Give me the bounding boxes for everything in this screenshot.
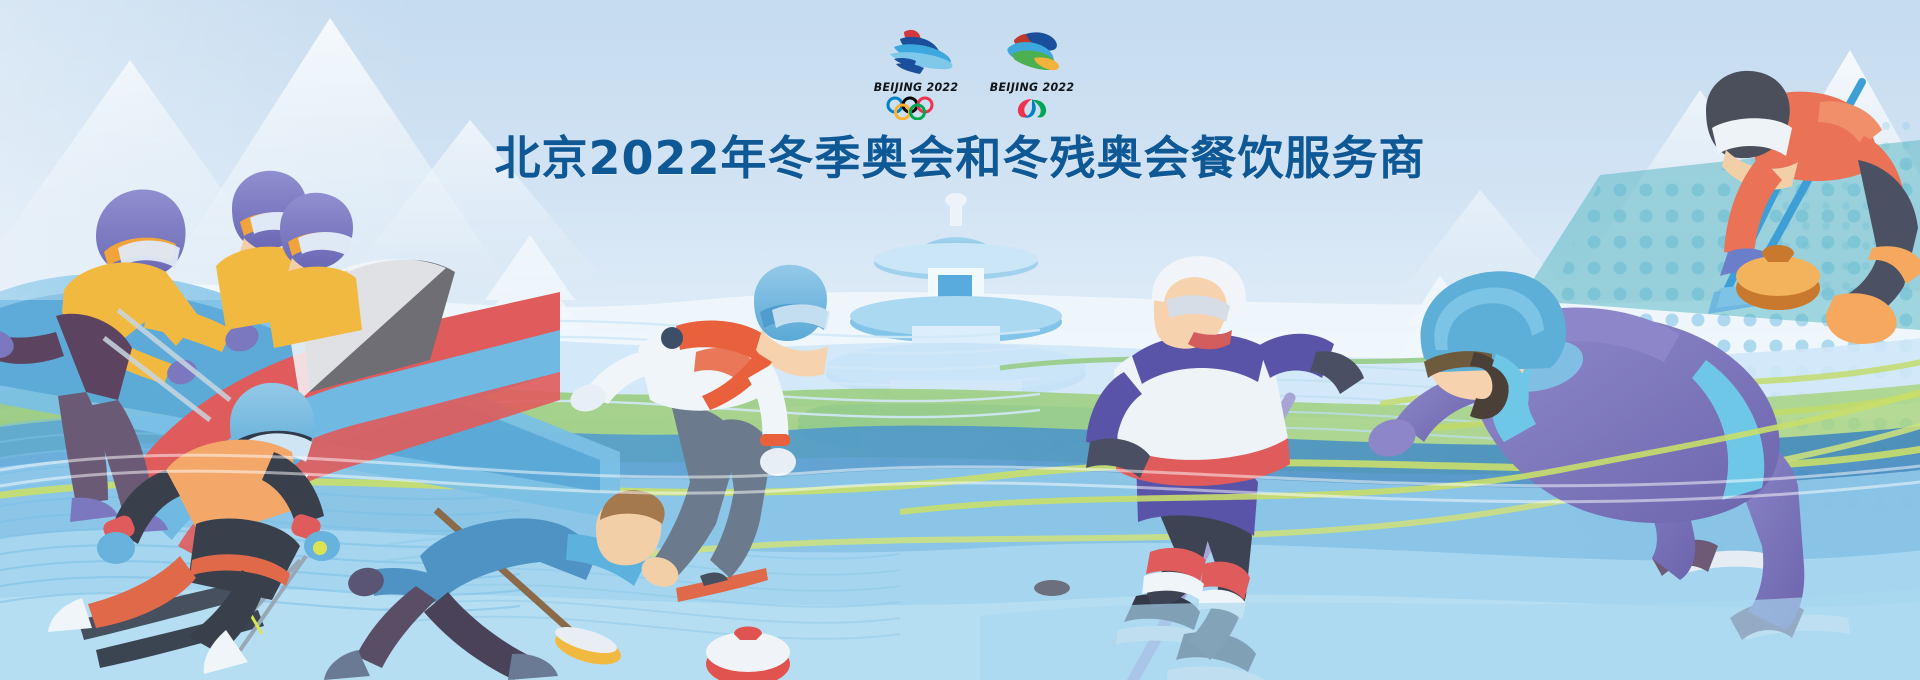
winter-dream-emblem-icon <box>870 26 962 78</box>
olympic-wordmark: BEIJING 2022 <box>874 80 959 94</box>
page-title: 北京2022年冬季奥会和冬残奥会餐饮服务商 <box>0 122 1920 188</box>
ribbon-foreground-white <box>0 455 1920 502</box>
beijing-2022-olympic-logo[interactable]: BEIJING 2022 <box>866 26 966 120</box>
olympic-rings-icon <box>881 96 951 120</box>
beijing-2022-paralympic-logo[interactable]: BEIJING 2022 <box>982 26 1082 120</box>
flight-emblem-icon <box>986 26 1078 78</box>
logo-group: BEIJING 2022 BEIJING 2022 <box>866 26 1086 126</box>
paralympic-wordmark: BEIJING 2022 <box>990 80 1075 94</box>
ribbon-foreground-band <box>980 588 1920 680</box>
banner-root: BEIJING 2022 BEIJING 2022 <box>0 0 1920 680</box>
agitos-icon <box>997 96 1067 120</box>
